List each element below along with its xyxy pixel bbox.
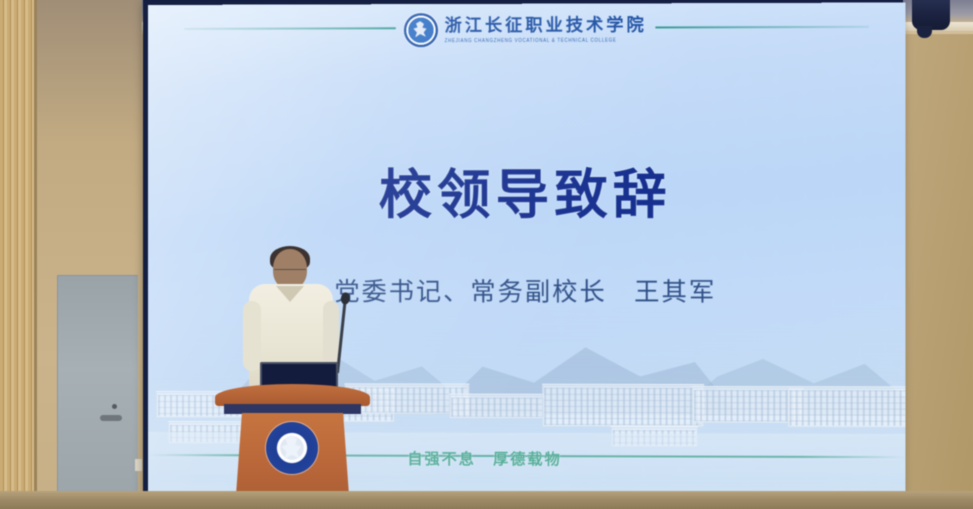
stage-light-icon (912, 0, 950, 30)
school-crest-icon (266, 422, 318, 474)
institution-name-en: ZHEJIANG CHANGZHENG VOCATIONAL & TECHNIC… (445, 37, 647, 43)
slide-header: 浙江长征职业技术学院 ZHEJIANG CHANGZHENG VOCATIONA… (148, 2, 906, 57)
side-door[interactable] (57, 275, 138, 509)
door-lock-icon (112, 404, 117, 409)
institution-branding: 浙江长征职业技术学院 ZHEJIANG CHANGZHENG VOCATIONA… (403, 12, 646, 47)
podium-accent-band (224, 404, 361, 414)
glasses-icon (274, 269, 306, 276)
institution-name-cn: 浙江长征职业技术学院 (445, 17, 647, 35)
slide-title: 校领导致辞 (148, 152, 906, 229)
campus-building (787, 386, 905, 428)
header-rule-left (184, 27, 395, 30)
auditorium-scene: 自强不息 厚德载物 浙江长征职业技术学院 ZHEJIANG CHANGZHENG… (0, 0, 973, 509)
campus-building (449, 394, 546, 419)
campus-building (542, 384, 704, 428)
wall-edge-trim (34, 0, 37, 509)
wood-slat-pillar (0, 0, 36, 509)
stage-floor (0, 491, 973, 509)
door-handle-icon (100, 415, 122, 421)
wall-switch-plate[interactable] (135, 459, 142, 471)
header-rule-right (655, 26, 869, 29)
university-seal-icon (403, 13, 437, 47)
speaker-arm-left (243, 301, 261, 371)
podium-top-surface (215, 384, 370, 406)
